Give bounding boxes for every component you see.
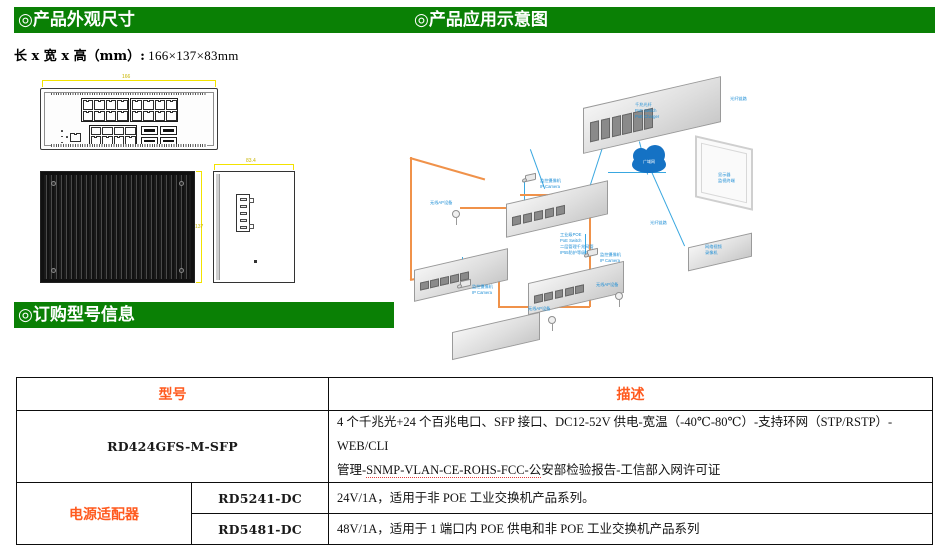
rj45-port	[143, 111, 154, 121]
section-title-appearance: ◎产品外观尺寸	[18, 7, 135, 33]
device-label-monitor: 显示器 监视终端	[718, 172, 735, 184]
mounting-screw	[51, 181, 56, 186]
status-led-group-secondary	[66, 136, 68, 140]
heatsink-fins	[44, 175, 191, 279]
power-terminal-block	[236, 194, 250, 232]
table-row: RD424GFS-M-SFP 4 个千兆光+24 个百兆电口、SFP 接口、DC…	[17, 411, 933, 483]
dimension-guide-side-label: 83.4	[246, 158, 256, 164]
cell-model-adapter-48v: RD5481-DC	[192, 514, 329, 545]
device-label-camera: 监控摄像机 IP Camera	[600, 252, 621, 264]
device-port	[450, 274, 459, 284]
section-header-bar-top: ◎产品外观尺寸 ◎产品应用示意图	[14, 7, 935, 33]
ip-camera	[587, 248, 598, 258]
status-led-group	[61, 130, 63, 143]
mounting-screw	[179, 181, 184, 186]
cell-description-main: 4 个千兆光+24 个百兆电口、SFP 接口、DC12-52V 供电-宽温（-4…	[329, 411, 933, 483]
wireless-ap	[548, 316, 556, 324]
dimension-guide-right-label: 137	[195, 224, 203, 230]
cell-group-power-adapter: 电源适配器	[17, 483, 192, 545]
ring-cable-orange	[410, 157, 485, 180]
ip-camera	[525, 173, 536, 183]
rj45-port	[166, 111, 177, 121]
sfp-cage-block	[140, 125, 178, 146]
rj45-port	[117, 111, 128, 121]
cell-description-adapter-48v: 48V/1A，适用于 1 端口内 POE 供电和非 POE 工业交换机产品系列	[329, 514, 933, 545]
rj45-port	[102, 127, 113, 136]
device-label-poe-charger: 千兆光纤 PoE Switch PoE Charger	[635, 102, 659, 120]
device-port	[622, 113, 631, 135]
rj45-port	[94, 100, 105, 110]
device-label-camera: 监控摄像机 IP Camera	[540, 178, 561, 190]
dimension-guide-top-tick-left	[42, 80, 43, 87]
description-line-1: 4 个千兆光+24 个百兆电口、SFP 接口、DC12-52V 供电-宽温（-4…	[337, 411, 924, 459]
device-port	[590, 120, 599, 142]
dimension-guide-top-tick-right	[215, 80, 216, 87]
device-port	[601, 118, 610, 140]
rj45-port	[166, 100, 177, 110]
rj45-port-block-upper-left	[81, 98, 129, 122]
rj45-port-block-lower	[89, 125, 137, 146]
table-header-model: 型号	[17, 378, 329, 411]
sfp-cage	[160, 126, 177, 135]
description-line-2-prefix: 管理-	[337, 463, 366, 477]
rj45-port	[83, 111, 94, 121]
rj45-port	[132, 111, 143, 121]
device-label-ap: 无线AP设备	[430, 200, 452, 206]
table-row: 电源适配器 RD5241-DC 24V/1A，适用于非 POE 工业交换机产品系…	[17, 483, 933, 514]
device-port	[440, 276, 449, 286]
cell-model-main: RD424GFS-M-SFP	[17, 411, 329, 483]
vent-strip-bottom	[51, 144, 207, 147]
rj45-port	[114, 127, 125, 136]
dimension-guide-side	[214, 164, 294, 165]
device-label-camera: 监控摄像机 IP Camera	[472, 284, 493, 296]
rj45-port	[106, 100, 117, 110]
terminal-screw	[240, 226, 247, 229]
console-port	[70, 133, 81, 142]
dimension-guide-side-tick-left	[214, 164, 215, 170]
rj45-port	[83, 100, 94, 110]
terminal-screw	[240, 212, 247, 215]
wan-cloud: 广域网	[632, 154, 666, 173]
device-port	[420, 281, 429, 291]
application-topology-diagram: 千兆光纤 PoE Switch PoE Charger 广域网 显示器 监视终端…	[400, 44, 940, 344]
product-front-panel	[40, 88, 218, 150]
rj45-port	[106, 111, 117, 121]
product-drawing: 166	[28, 78, 328, 293]
dimension-label: 长 x 宽 x 高（mm）:	[14, 49, 145, 64]
dimension-line: 长 x 宽 x 高（mm）: 166×137×83mm	[14, 45, 239, 64]
rj45-port	[143, 100, 154, 110]
terminal-screw	[240, 205, 247, 208]
ground-point	[254, 260, 257, 263]
product-heatsink-view	[40, 171, 195, 283]
wireless-ap	[615, 292, 623, 300]
rj45-port	[132, 100, 143, 110]
table-header-row: 型号 描述	[17, 378, 933, 411]
rj45-port	[117, 100, 128, 110]
section-header-bar-order: ◎订购型号信息	[14, 302, 394, 328]
dimension-guide-side-tick-right	[293, 164, 294, 170]
rj45-port	[155, 100, 166, 110]
table-header-description: 描述	[329, 378, 933, 411]
device-poe-switch-middle	[506, 192, 608, 226]
network-link-blue	[608, 172, 666, 173]
cell-model-adapter-24v: RD5241-DC	[192, 483, 329, 514]
section-title-order: ◎订购型号信息	[18, 302, 135, 328]
cell-description-adapter-24v: 24V/1A，适用于非 POE 工业交换机产品系列。	[329, 483, 933, 514]
dimension-guide-right-tick-top	[196, 171, 202, 172]
mounting-screw	[51, 268, 56, 273]
link-label-fiber-top: 光纤链路	[730, 96, 747, 102]
wireless-ap	[452, 210, 460, 218]
dimension-guide-top-label: 166	[122, 74, 130, 80]
mounting-screw	[179, 268, 184, 273]
rj45-port	[155, 111, 166, 121]
side-view-edge	[216, 174, 220, 280]
dimension-guide-top	[42, 80, 216, 81]
device-label-nvr: 网络视频 录像机	[705, 244, 722, 256]
device-poe-switch-bottom	[452, 322, 540, 350]
terminal-screw	[240, 198, 247, 201]
status-led	[66, 136, 68, 138]
rj45-port	[94, 111, 105, 121]
terminal-tab	[249, 198, 254, 203]
sfp-cage	[141, 126, 158, 135]
rj45-port	[125, 127, 136, 136]
link-label-fiber: 光纤链路	[650, 220, 667, 226]
ordering-info-table: 型号 描述 RD424GFS-M-SFP 4 个千兆光+24 个百兆电口、SFP…	[16, 377, 933, 545]
wan-cloud-label: 广域网	[632, 159, 666, 165]
device-label-ap: 无线AP设备	[528, 306, 550, 312]
rj45-port	[91, 127, 102, 136]
status-led	[61, 136, 63, 138]
terminal-screw	[240, 219, 247, 222]
description-line-2-suffix: 安部检验报告-工信部入网许可证	[541, 463, 720, 477]
product-side-view	[213, 171, 295, 283]
status-led	[61, 142, 63, 144]
dimension-value: 166×137×83mm	[148, 48, 239, 63]
device-body	[452, 312, 540, 360]
device-label-ap: 无线AP设备	[596, 282, 618, 288]
ring-cable-orange	[410, 157, 412, 279]
dimension-guide-right-tick-bottom	[196, 282, 202, 283]
description-line-2: 管理-SNMP-VLAN-CE-ROHS-FCC-公安部检验报告-工信部入网许可…	[337, 459, 924, 483]
description-line-2-spellchecked: SNMP-VLAN-CE-ROHS-FCC-公	[366, 463, 541, 478]
vent-strip-top	[51, 93, 207, 95]
terminal-tab	[249, 224, 254, 229]
status-led	[61, 130, 63, 132]
device-port	[612, 115, 621, 137]
section-title-application: ◎产品应用示意图	[414, 7, 548, 33]
rj45-port-block-upper-right	[130, 98, 178, 122]
device-port	[430, 278, 439, 288]
